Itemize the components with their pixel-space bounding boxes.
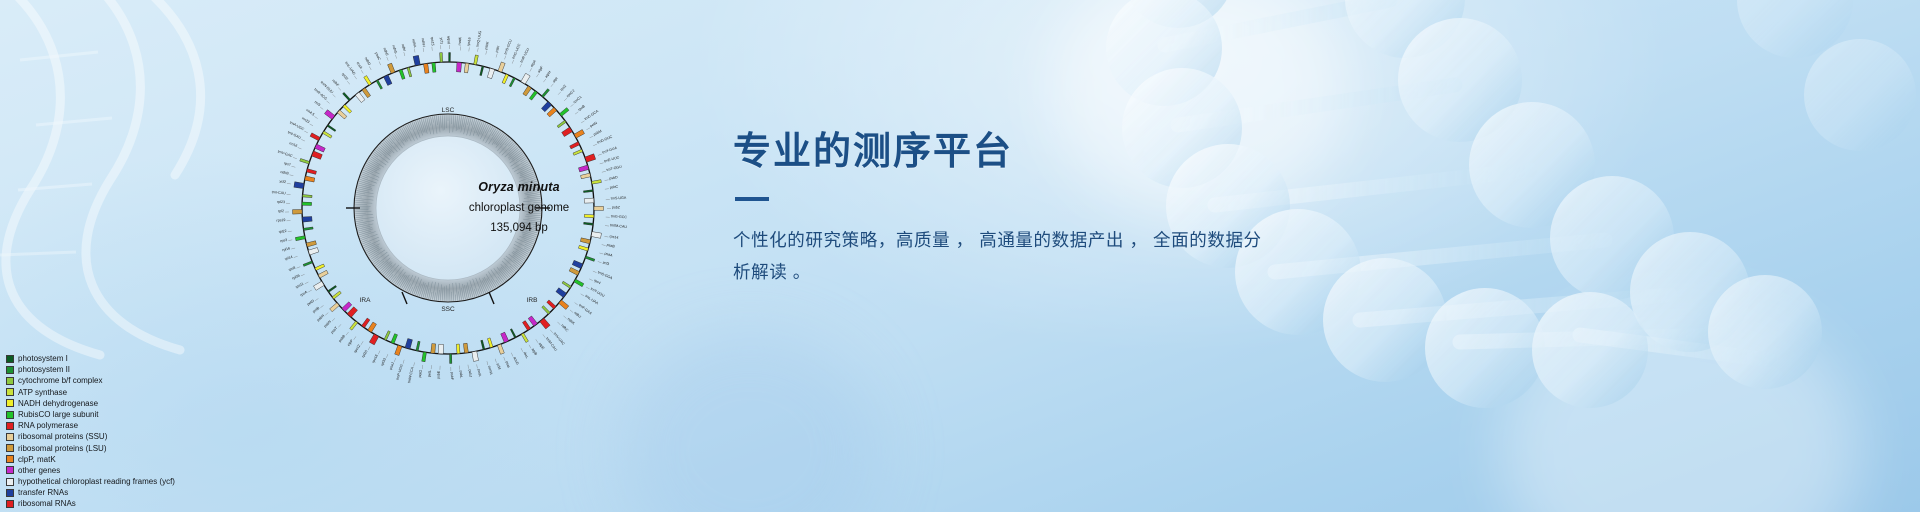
gene-leader-line [338,324,341,327]
gene-feature-block [583,190,593,193]
legend-swatch [6,388,14,396]
gene-label: trnI-CAU [272,190,287,195]
gene-leader-line [557,322,560,325]
gene-feature-block [407,67,412,77]
gene-label: rrn5 [314,100,322,107]
gene-feature-block [440,53,443,63]
gene-label: ndhK [567,317,576,326]
gene-feature-block [362,318,370,328]
gene-feature-block [423,63,429,73]
gene-leader-line [495,359,496,363]
gene-leader-line [288,240,292,241]
svg-text:IRB: IRB [527,297,538,304]
gene-leader-line [564,98,567,101]
gene-label: trnA-UGC [289,120,305,131]
gene-feature-block [450,354,452,364]
gene-label: psaC [374,52,381,62]
gene-label: psaI [505,361,511,369]
gene-feature-block [315,264,325,271]
gene-label: rps3 [280,238,288,243]
gene-label: rpl33 [380,358,387,367]
gene-feature-block [464,63,469,73]
gene-leader-line [600,163,604,164]
gene-leader-line [301,274,305,276]
gene-label: rrn23 [301,116,310,124]
gene-feature-block [432,63,436,73]
gene-feature-block [295,236,305,241]
gene-leader-line [511,353,513,357]
gene-feature-block [569,267,579,275]
gene-label: petL [427,370,432,377]
gene-leader-line [558,92,561,95]
gene-label: trnT-UGU [590,287,606,298]
gene-leader-line [512,60,514,64]
gene-feature-block [584,198,594,203]
gene-feature-block [302,195,312,198]
legend-item: NADH dehydrogenase [6,398,236,409]
gene-label: rps4 [593,278,601,285]
gene-leader-line [586,287,589,289]
gene-feature-block [509,78,515,87]
gene-feature-block [521,73,530,84]
gene-label: rps15 [430,37,435,46]
gene-feature-block [456,344,460,354]
gene-feature-block [542,89,550,98]
gene-leader-line [570,310,573,313]
gene-feature-block [578,245,588,251]
gene-label: psbZ [612,205,621,209]
background-glow-center [620,330,880,512]
gene-feature-block [384,331,390,341]
gene-feature-block [323,131,332,138]
gene-leader-line [589,279,593,281]
gene-label: trnQ-UUG [475,30,482,47]
gene-feature-block [302,216,312,222]
gene-label: rpoC2 [566,89,576,99]
gene-feature-block [557,120,566,128]
gene-feature-block [449,53,451,63]
gene-feature-block [585,256,595,261]
gene-label: atpH [544,70,552,79]
gene-label: trnfM-CAU [610,223,628,229]
gene-feature-block [305,176,315,182]
gene-feature-block [376,80,382,89]
gene-label: rps12 [353,344,361,354]
legend-label: photosystem I [18,353,68,364]
legend-swatch [6,455,14,463]
gene-feature-block [315,144,325,152]
gene-label: ndhB [280,170,290,176]
gene-leader-line [414,362,415,366]
gene-label: rpl2 [278,209,284,213]
gene-label: rpl36 [291,274,300,281]
gene-label: psbK [484,40,490,49]
gene-leader-line [586,128,589,130]
gene-label: rpl23 [277,200,285,204]
gene-feature-block [487,338,492,348]
legend-item: ribosomal proteins (LSU) [6,443,236,454]
gene-leader-line [287,183,291,184]
legend-label: RubisCO large subunit [18,409,98,420]
gene-label: ycf3 [602,260,610,266]
legend-item: clpP, matK [6,454,236,465]
gene-leader-line [338,87,341,90]
gene-label: psbM [593,129,603,136]
gene-feature-block [529,91,537,100]
gene-label: psbB [338,334,347,343]
gene-label: ndhD [364,57,372,67]
gene-label: psbI [495,45,501,53]
svg-text:LSC: LSC [442,107,455,114]
gene-feature-block [364,76,372,86]
gene-label: rpl16 [282,246,291,252]
gene-leader-line [361,70,363,73]
gene-label: trnD-GUC [597,135,614,145]
gene-feature-block [384,75,392,86]
gene-leader-line [593,271,597,273]
gene-feature-block [522,321,530,331]
gene-leader-line [529,345,531,348]
gene-label: ndhF [331,79,340,88]
legend-item: RubisCO large subunit [6,409,236,420]
svg-text:IRA: IRA [360,297,372,304]
legend-label: photosystem II [18,364,70,375]
gene-label: trnS-GGA [597,270,614,280]
gene-feature-block [438,344,443,354]
gene-feature-block [584,222,594,225]
gene-label: matK [458,36,463,45]
gene-label: trnY-GUA [602,146,618,155]
gene-feature-block [388,63,396,73]
title-underline-divider [735,197,769,201]
gene-leader-line [305,282,309,284]
legend-swatch [6,444,14,452]
gene-feature-block [307,169,317,175]
gene-label: atpI [552,76,559,83]
gene-leader-line [575,112,578,114]
legend-label: hypothetical chloroplast reading frames … [18,476,175,487]
gene-feature-block [328,285,337,292]
gene-feature-block [547,107,557,116]
legend-label: ribosomal RNAs [18,498,76,509]
gene-leader-line [564,316,567,319]
legend-label: NADH dehydrogenase [18,398,98,409]
gene-leader-line [487,361,488,365]
gene-leader-line [346,332,349,335]
gene-feature-block [343,105,352,114]
gene-feature-block [431,344,436,354]
page-subtitle: 个性化的研究策略，高质量 ， 高通量的数据产出 ， 全面的数据分析解读 。 [733,224,1263,289]
gene-feature-block [343,92,351,100]
gene-leader-line [571,104,574,107]
gene-feature-block [542,306,550,315]
legend-swatch [6,366,14,374]
marketing-copy: 专业的测序平台 个性化的研究策略，高质量 ， 高通量的数据产出 ， 全面的数据分… [733,132,1293,289]
gene-feature-block [310,133,320,141]
gene-leader-line [504,56,505,60]
gene-label: rps14 [609,234,619,240]
gene-leader-line [332,318,335,321]
gene-feature-block [594,206,604,210]
gene-label: accD [512,356,519,365]
gene-leader-line [327,101,330,104]
gene-leader-line [288,231,292,232]
legend-swatch [6,355,14,363]
legend-swatch [6,500,14,508]
legend-swatch [6,489,14,497]
legend-label: ribosomal proteins (LSU) [18,443,106,454]
legend-label: other genes [18,465,60,476]
gene-feature-block [306,241,316,247]
gene-label: trnI-GAU [287,130,302,140]
gene-leader-line [379,61,381,65]
gene-feature-block [472,351,479,361]
gene-feature-block [294,182,304,189]
legend-label: cytochrome b/f complex [18,375,102,386]
gene-label: trnS-GCU [503,39,512,56]
legend-item: ATP synthase [6,387,236,398]
gene-label: ndhI [401,44,407,52]
genome-map-svg: LSC IRA SSC IRB psbAmatKrps16trnQ-UUGpsb… [243,8,653,408]
gene-label: psbN [323,319,332,328]
gene-leader-line [293,157,297,158]
legend-label: ribosomal proteins (SSU) [18,431,107,442]
gene-label: psaJ [389,362,395,371]
gene-label: rpl20 [361,349,368,358]
gene-leader-line [550,330,553,333]
legend-label: ATP synthase [18,387,67,398]
gene-feature-block [395,345,402,355]
gene-label: rpoB [577,104,586,112]
gene-label: atpE [538,342,546,351]
gene-feature-block [501,332,509,343]
gene-feature-block [324,110,334,120]
gene-feature-block [456,62,461,72]
gene-feature-block [303,227,313,231]
gene-leader-line [468,365,469,369]
gene-feature-block [502,74,509,84]
gene-feature-block [570,142,580,149]
gene-label: trnW-CCA [407,366,414,383]
gene-leader-line [325,313,328,316]
legend-swatch [6,478,14,486]
gene-leader-line [320,107,323,109]
gene-leader-line [289,175,293,176]
gene-label: rps18 [371,354,378,364]
gene-feature-block [487,68,494,78]
gene-leader-line [530,68,532,71]
gene-leader-line [581,294,584,296]
legend-item: cytochrome b/f complex [6,375,236,386]
gene-leader-line [543,79,545,82]
gene-feature-block [510,329,516,338]
legend-item: ribosomal RNAs [6,498,236,509]
gene-leader-line [291,166,295,167]
gene-label: rrn16 [289,141,298,148]
legend-label: transfer RNAs [18,487,68,498]
gene-leader-line [394,358,395,362]
legend-item: RNA polymerase [6,420,236,431]
gene-label: trnC-GCA [584,109,600,121]
gene-leader-line [297,267,301,268]
gene-label: atpA [530,59,538,68]
gene-label: rps7 [283,161,291,167]
gene-leader-line [361,341,363,344]
gene-label: trnP-UGG [395,364,403,381]
gene-label: rpoA [299,290,308,298]
gene-label: rrn4.5 [305,108,315,117]
gene-label: ycf1 [439,37,443,44]
gene-label: trnG-UCC [511,43,521,60]
gene-label: psbT [330,325,339,334]
gene-feature-block [399,69,405,79]
gene-label: psbE [436,370,440,379]
gene-label: petA [477,369,482,378]
gene-label: ndhA [411,39,417,49]
gene-leader-line [386,354,388,358]
gene-label: trnR-UCU [519,47,530,63]
gene-feature-block [391,334,398,344]
legend-item: ribosomal proteins (SSU) [6,431,236,442]
gene-feature-block [559,108,569,117]
gene-leader-line [315,298,318,300]
gene-label: rpl14 [284,255,293,261]
gene-label: psaB [606,243,615,249]
gene-feature-block [413,55,420,65]
gene-leader-line [593,144,597,146]
gene-leader-line [521,348,523,352]
gene-feature-block [572,260,583,268]
gene-leader-line [347,81,349,84]
gene-label: rpl32 [341,72,349,81]
genome-legend: photosystem Iphotosystem IIcytochrome b/… [6,353,236,510]
gene-leader-line [369,66,371,69]
gene-leader-line [301,139,305,141]
gene-leader-line [590,136,594,138]
gene-label: trnS-UGA [611,196,627,201]
gene-feature-block [313,281,324,290]
gene-label: rps2 [559,84,567,92]
gene-label: ndhC [560,323,569,332]
gene-feature-block [350,321,358,330]
gene-leader-line [602,245,606,246]
gene-feature-block [521,333,528,343]
gene-label: trnV-GAC [277,150,293,159]
gene-feature-block [302,202,312,205]
gene-feature-block [303,261,313,266]
gene-feature-block [337,110,347,119]
gene-leader-line [378,351,380,355]
gene-leader-line [387,57,389,61]
gene-label: trnE-UUC [604,155,620,163]
gene-leader-line [598,261,602,262]
gene-label: psbC [609,185,618,190]
gene-leader-line [354,336,356,339]
gene-label: rpl22 [278,229,286,234]
gene-leader-line [308,290,311,292]
gene-feature-block [574,130,585,139]
gene-leader-line [551,84,554,87]
gene-leader-line [395,55,396,59]
gene-label: psbD [609,175,618,180]
gene-label: petD [306,299,315,307]
gene-feature-block [523,86,532,96]
chloroplast-genome-map: LSC IRA SSC IRB psbAmatKrps16trnQ-UUGpsb… [243,8,653,408]
gene-leader-line [599,253,603,254]
gene-label: trnL-UAA [584,294,599,306]
gene-leader-line [581,121,584,123]
gene-feature-block [592,180,602,184]
gene-feature-block [573,149,583,155]
gene-feature-block [481,340,485,350]
gene-label: psbA [447,35,451,44]
gene-leader-line [520,64,522,68]
gene-label: ndhG [391,45,398,55]
gene-feature-block [368,322,377,332]
gene-feature-block [327,125,336,132]
gene-feature-block [591,232,601,239]
gene-leader-line [414,49,415,53]
gene-leader-line [298,147,302,149]
gene-feature-block [480,66,484,76]
gene-label: rps19 [276,218,285,223]
legend-item: photosystem I [6,353,236,364]
gene-feature-block [362,88,371,98]
gene-leader-line [604,236,608,237]
gene-feature-block [332,291,341,299]
gene-feature-block [585,154,596,162]
gene-feature-block [330,303,340,312]
gene-feature-block [498,62,505,72]
gene-leader-line [310,124,313,126]
legend-swatch [6,411,14,419]
gene-leader-line [496,54,497,58]
gene-label: psbJ [468,369,473,377]
gene-label: rps8 [288,266,296,272]
gene-label: psbH [316,313,325,322]
gene-label: petB [312,306,321,314]
gene-leader-line [333,94,336,97]
gene-feature-block [300,158,310,163]
gene-feature-block [528,316,537,326]
gene-feature-block [312,151,323,159]
gene-leader-line [543,334,545,337]
gene-label: clpP [347,338,355,347]
gene-leader-line [598,154,602,155]
gene-feature-block [547,300,556,309]
gene-label: ndhE [382,47,389,57]
banner-root: LSC IRA SSC IRB psbAmatKrps16trnQ-UUGpsb… [0,0,1920,512]
gene-label: rbcL [522,351,529,359]
gene-label: ycf4 [496,363,502,370]
gene-feature-block [559,300,569,310]
gene-leader-line [575,303,578,305]
gene-label: trnM-CAU [545,337,558,353]
gene-leader-line [602,171,606,172]
legend-swatch [6,377,14,385]
gene-leader-line [422,365,423,369]
gene-leader-line [314,116,317,118]
legend-item: other genes [6,465,236,476]
gene-label: trnT-GGU [606,165,622,173]
gene-feature-block [562,281,571,288]
gene-feature-block [578,165,588,172]
legend-swatch [6,466,14,474]
gene-label: rps11 [295,282,305,290]
gene-label: atpF [537,65,545,74]
gene-leader-line [423,48,424,52]
gene-leader-line [478,48,479,52]
